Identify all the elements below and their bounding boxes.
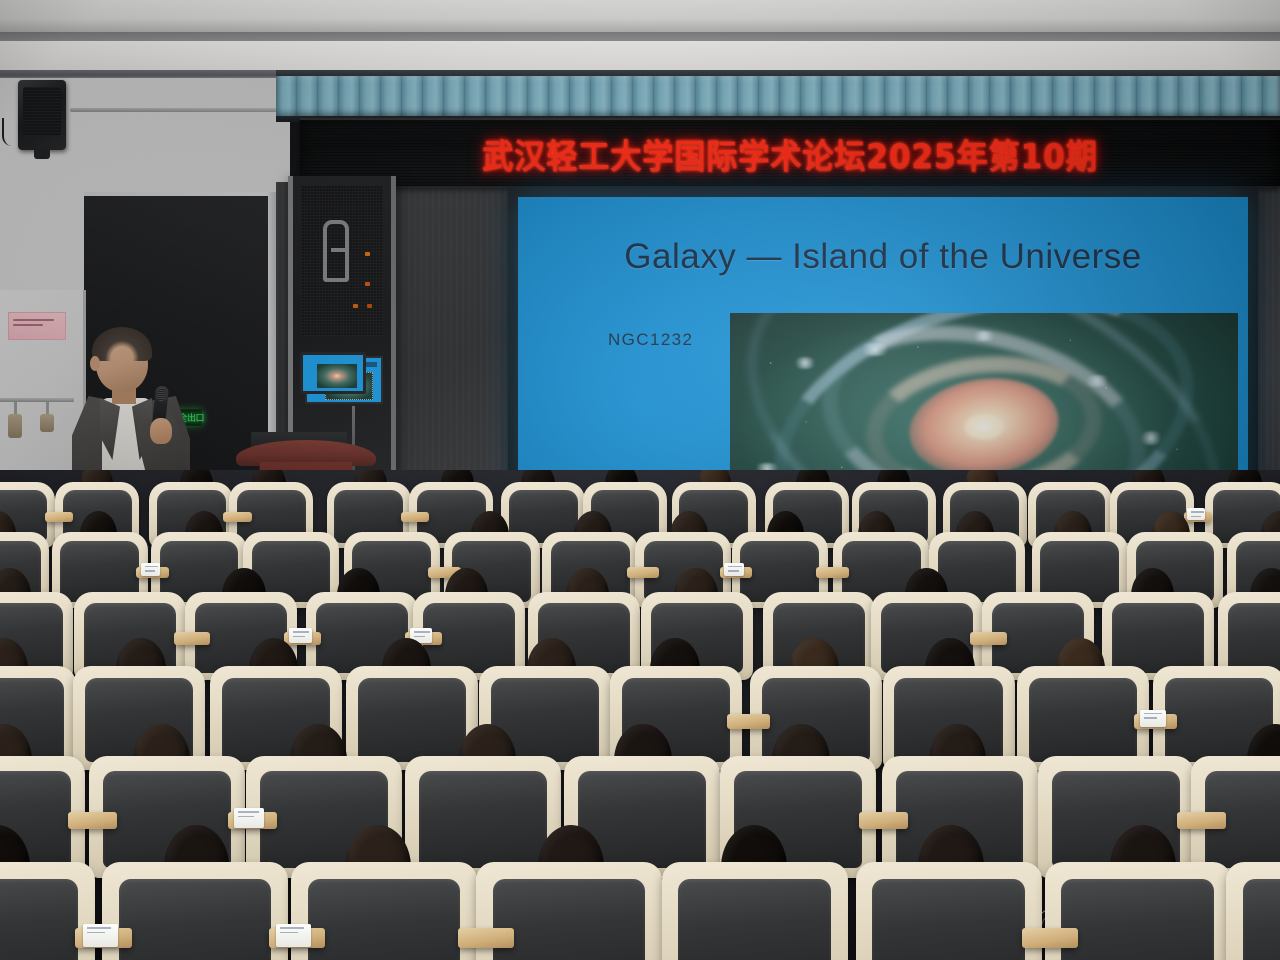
wall-speaker: [18, 80, 66, 150]
handout-paper: [83, 924, 118, 946]
podium-monitor: [300, 352, 366, 394]
notice-poster: [8, 312, 66, 340]
handout-paper: [1140, 710, 1166, 727]
seat-tablet-arm: [458, 928, 514, 948]
seat-tablet-arm: [727, 714, 769, 729]
auditorium-seat: [1226, 862, 1280, 960]
handout-paper: [724, 563, 744, 576]
coat-hook-rail: [0, 398, 74, 402]
ceiling-slab: [0, 0, 1280, 34]
ceiling-panel: [0, 41, 1280, 71]
seat-tablet-arm: [970, 632, 1007, 645]
handout-paper: [234, 808, 264, 828]
hanging-object: [8, 414, 22, 438]
rack-logo-icon: [323, 220, 349, 282]
handout-paper: [276, 924, 311, 946]
seat-tablet-arm: [223, 512, 252, 522]
slide-title: Galaxy — Island of the Universe: [518, 237, 1248, 277]
seat-tablet-arm: [1022, 928, 1078, 948]
auditorium-seat: [1017, 666, 1149, 770]
seat-tablet-arm: [401, 512, 430, 522]
seat-tablet-arm: [859, 812, 908, 829]
hanging-object: [40, 414, 54, 432]
auditorium-seat: [856, 862, 1042, 960]
handout-paper: [1187, 508, 1205, 519]
handout-paper: [289, 628, 312, 643]
stage-curtain-valance: [276, 76, 1280, 118]
seat-tablet-arm: [816, 567, 848, 578]
wall-rail: [70, 108, 290, 112]
seat-tablet-arm: [45, 512, 74, 522]
slide-object-label: NGC1232: [608, 330, 693, 350]
av-equipment-rack: [288, 176, 396, 476]
auditorium-seat: [662, 862, 848, 960]
speaker-cable: [2, 118, 18, 146]
seat-tablet-arm: [627, 567, 659, 578]
led-banner: 武汉轻工大学国际学术论坛2025年第10期: [300, 118, 1280, 188]
seat-tablet-arm: [1177, 812, 1226, 829]
seat-tablet-arm: [68, 812, 117, 829]
lecture-hall-photo: 武汉轻工大学国际学术论坛2025年第10期 Galaxy — Island of…: [0, 0, 1280, 960]
handout-paper: [141, 563, 161, 576]
led-banner-text: 武汉轻工大学国际学术论坛2025年第10期: [482, 129, 1097, 178]
audience-seating-area: [0, 470, 1280, 960]
presenter-hand: [150, 418, 172, 444]
seat-tablet-arm: [174, 632, 211, 645]
